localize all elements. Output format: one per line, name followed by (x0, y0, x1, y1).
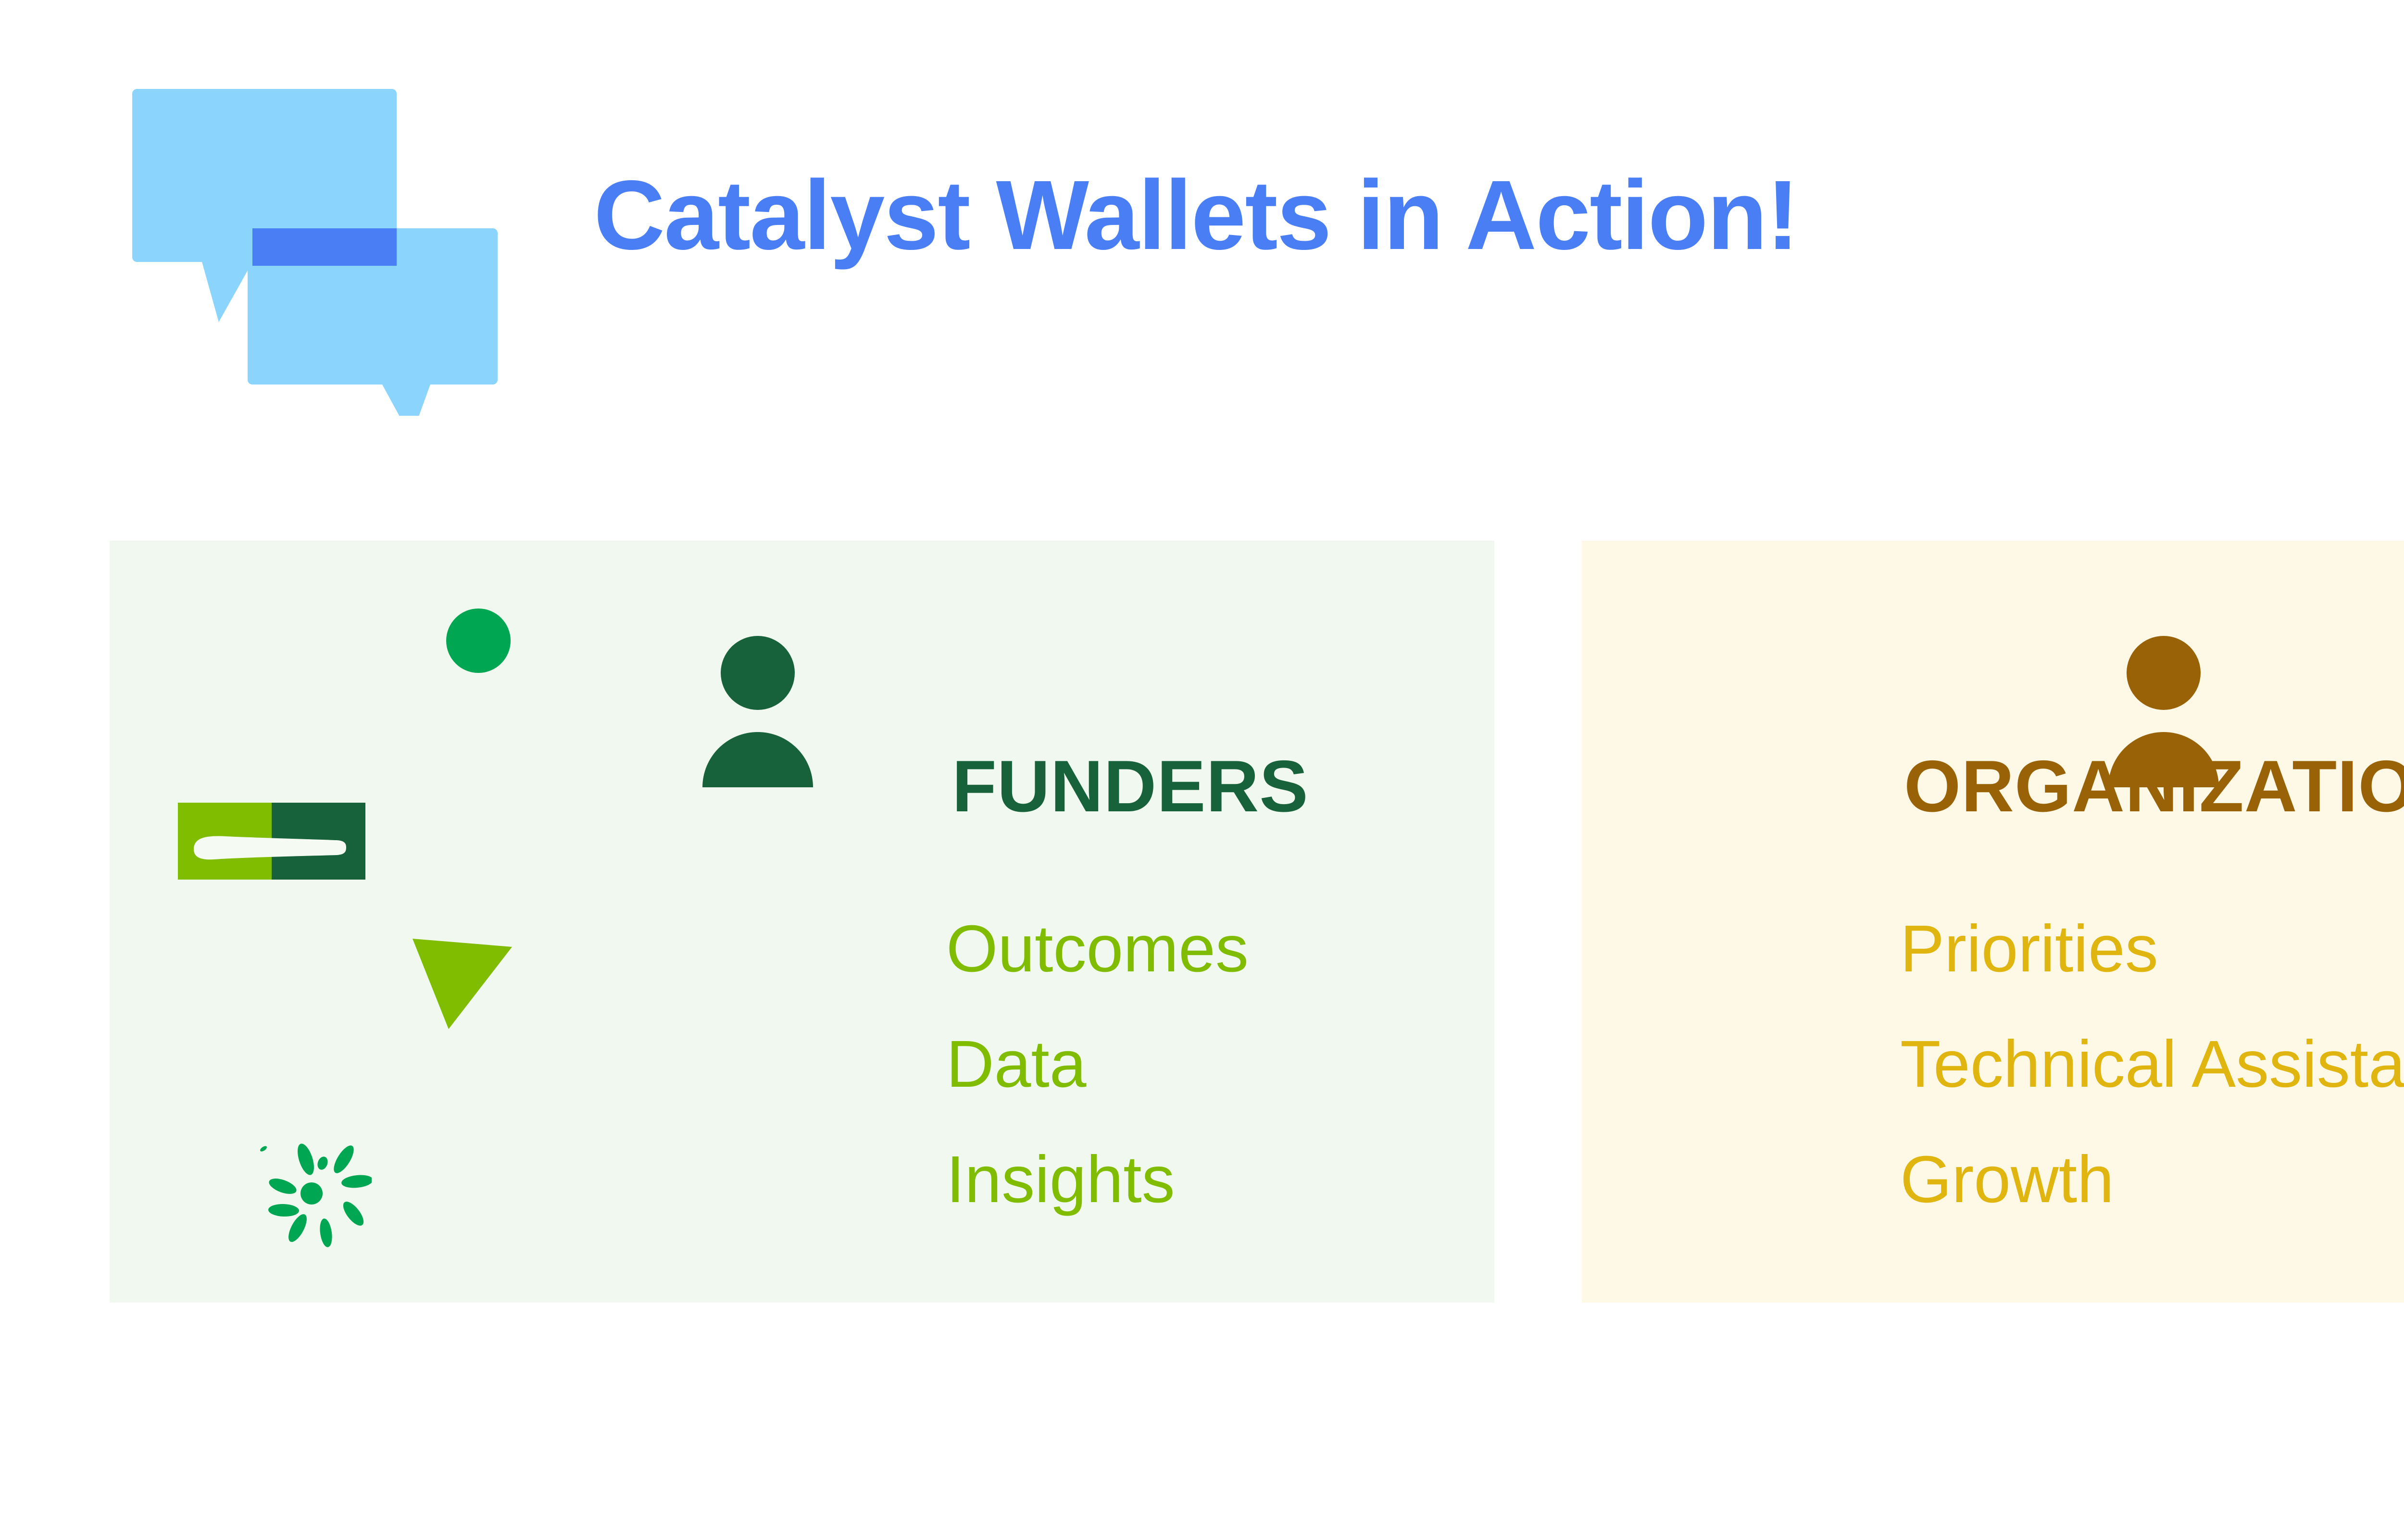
list-item: Growth (1900, 1146, 2404, 1262)
list-item: Priorities (1900, 916, 2404, 1031)
chat-bubble-overlap (252, 228, 397, 266)
list-item: Insights (946, 1146, 1249, 1262)
panel-heading-organizations: ORGANIZATIONS (1904, 750, 2404, 823)
panel-funders (110, 541, 1494, 1303)
item-list-organizations: Priorities Technical Assistance Support … (1900, 916, 2404, 1262)
sunburst-decoration (251, 1130, 372, 1250)
circle-decoration (445, 607, 512, 674)
list-item: Data (946, 1031, 1249, 1146)
panel-heading-funders: FUNDERS (952, 750, 1309, 823)
chat-bubbles-icon (123, 79, 507, 416)
page-title: Catalyst Wallets in Action! (594, 166, 1798, 264)
list-item: Outcomes (946, 916, 1249, 1031)
person-icon (700, 634, 815, 788)
triangle-down-decoration (410, 935, 516, 1031)
two-tone-rectangle-decoration (178, 803, 365, 880)
list-item: Technical Assistance Support (1900, 1031, 2404, 1146)
item-list-funders: Outcomes Data Insights (946, 916, 1249, 1262)
